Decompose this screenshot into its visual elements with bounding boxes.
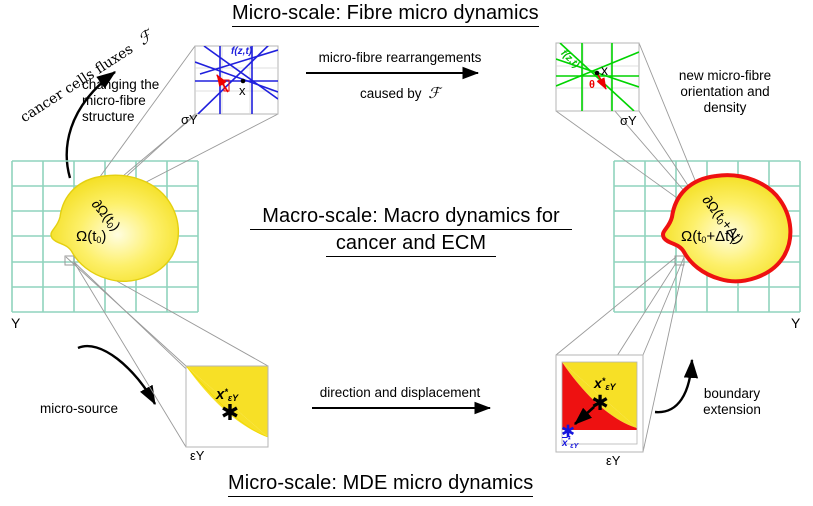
omega-dt-right: Ω(t [681, 228, 701, 245]
omega-t0-left-close: ) [101, 228, 106, 245]
micro-source-arrow [78, 346, 155, 404]
mde-box-left: ✱ [186, 366, 268, 447]
f-z-t-left: f(z,t) [231, 46, 252, 57]
point-x-right [595, 71, 600, 76]
mde-right-scale-label: εY [606, 453, 620, 468]
mde-left-point-label: x*εY [216, 386, 238, 403]
diagram-canvas: ✱ ✱ ✱ [0, 0, 813, 506]
micro-fibre-right-scale-label: σY [620, 113, 637, 128]
micro-fibre-left-scale-label: σY [181, 112, 198, 127]
x-star-eps-right-sub: εY [605, 382, 615, 392]
macro-right-axis-label: Y [791, 315, 800, 331]
micro-fibre-left-point-label: x [239, 83, 246, 98]
x-bar-eps-right-sub: εY [570, 443, 578, 450]
micro-fibre-right-angle-label: θ [589, 79, 595, 91]
x-star-eps-right: x [594, 375, 602, 391]
mde-left-star: ✱ [221, 401, 239, 426]
mde-right-point-label: x*εY [594, 375, 616, 392]
mde-right-blue-point-label: x*εY [562, 437, 578, 450]
macro-left-domain-label: Ω(t0) [76, 228, 106, 245]
boundary-extension-arrow [655, 360, 692, 412]
micro-fibre-right-point-label: x [601, 62, 608, 78]
omega-t0-left: Ω(t [76, 228, 96, 245]
x-star-eps-left-sub: εY [228, 393, 238, 403]
micro-fibre-left-function-label: f(z,t) [231, 46, 252, 57]
mde-right-star: ✱ [591, 391, 609, 415]
mde-left-scale-label: εY [190, 448, 204, 463]
macro-left-axis-label: Y [11, 315, 20, 331]
